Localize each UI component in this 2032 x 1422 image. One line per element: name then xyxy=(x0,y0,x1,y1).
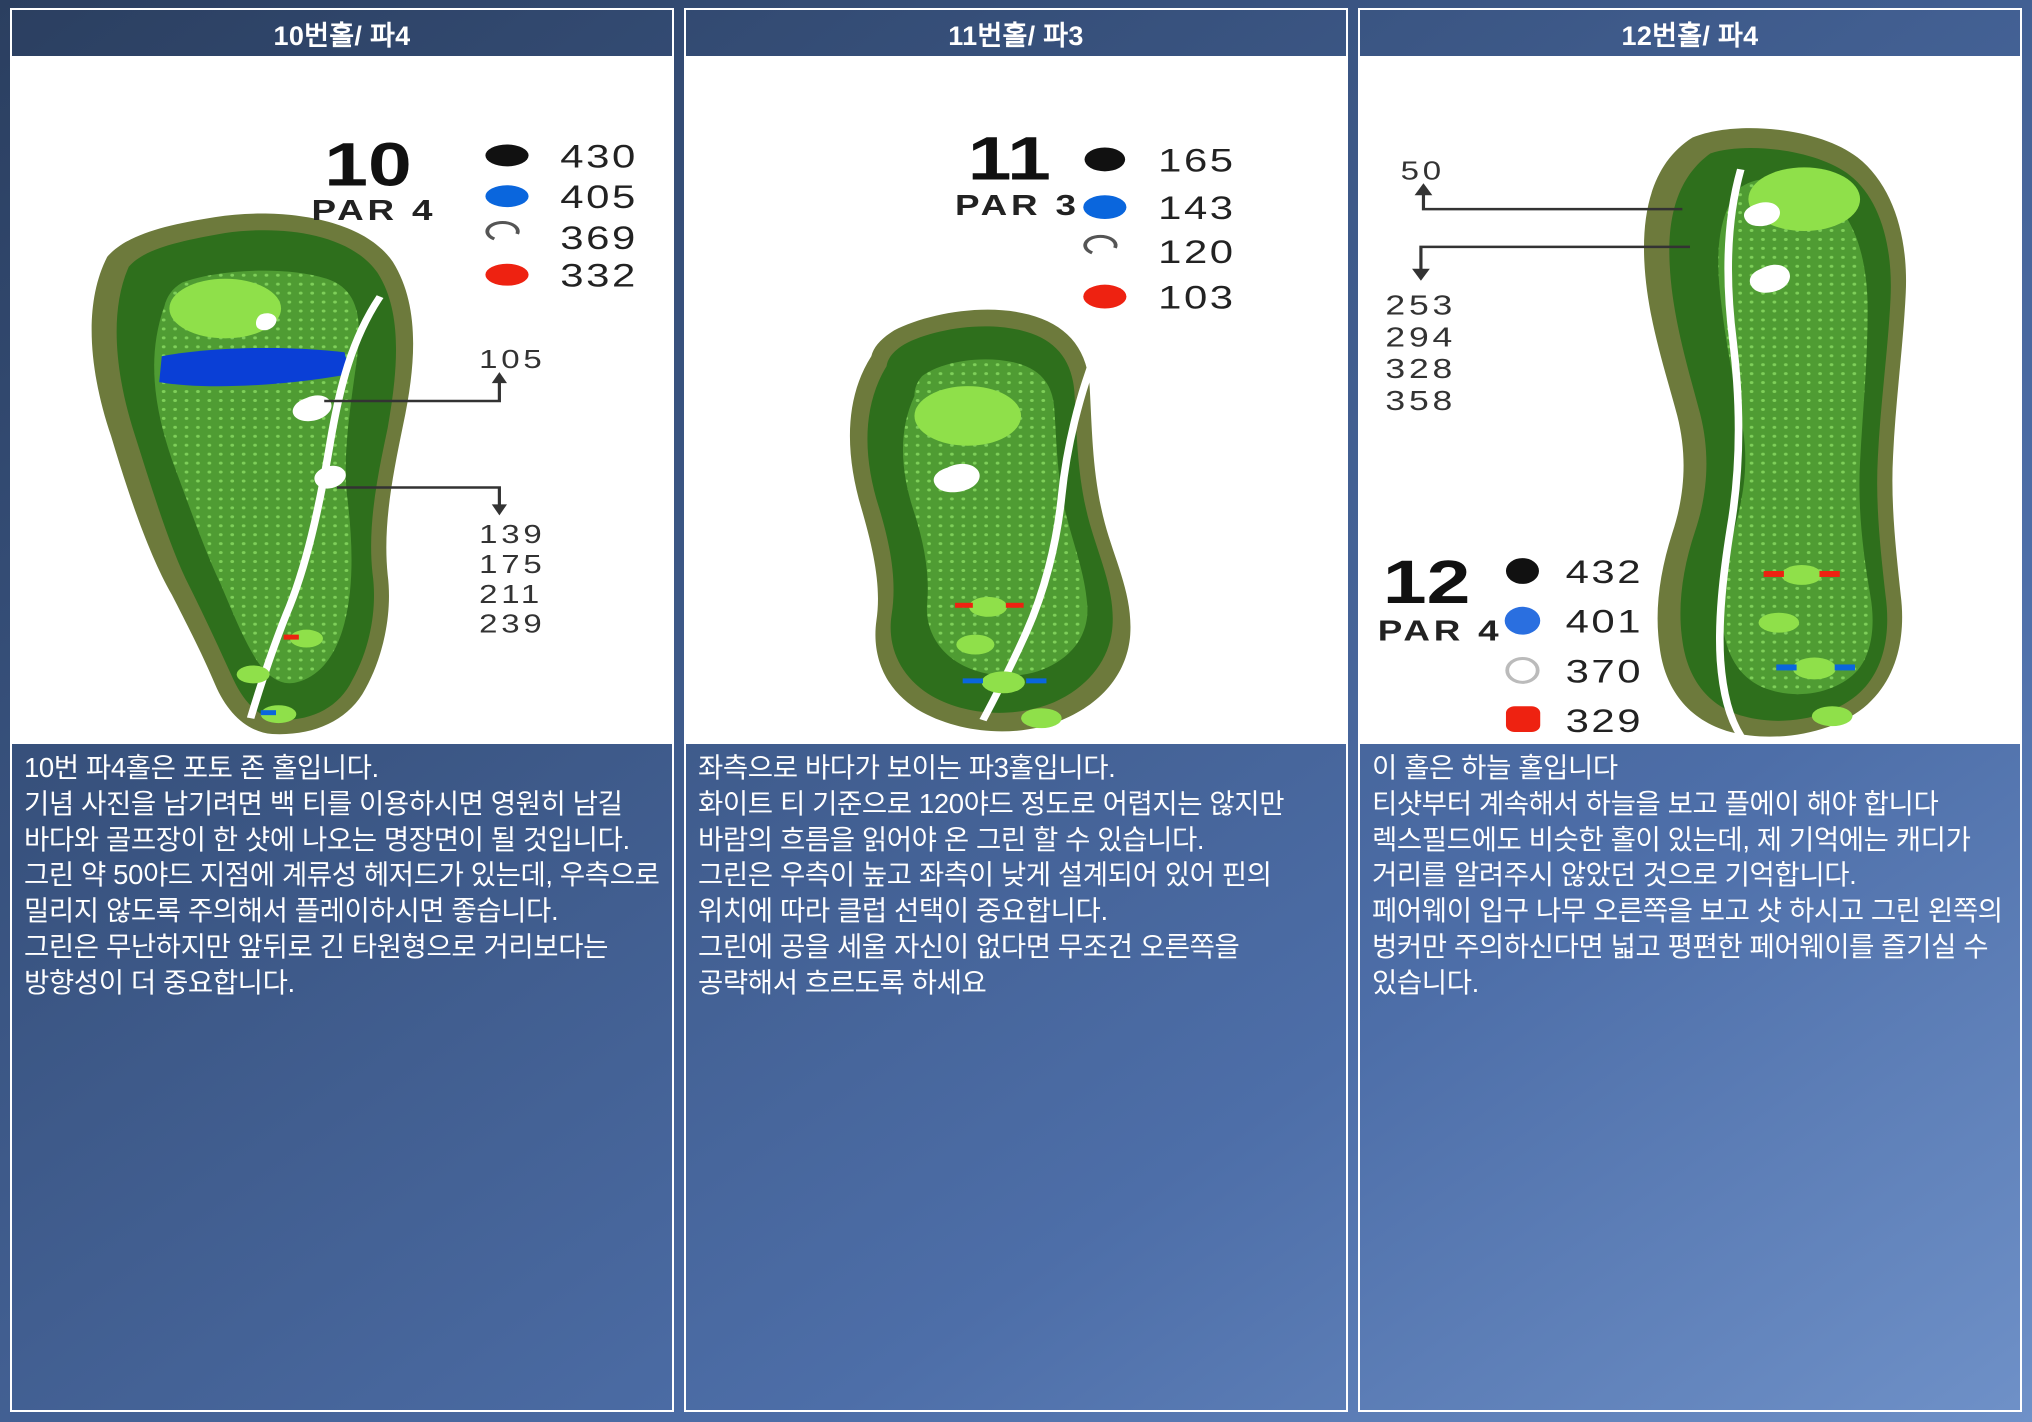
hole10-legend-yards-red: 332 xyxy=(560,257,637,294)
hole11-legend-marker-red xyxy=(1083,285,1126,309)
hole10-annotation-upper: 105 xyxy=(479,346,545,375)
hole12-tee-blue-l xyxy=(1776,664,1796,670)
hole12-annotation-lower-2: 328 xyxy=(1385,353,1456,384)
hole-description-12: 이 홀은 하늘 홀입니다 티샷부터 계속해서 하늘을 보고 플에이 해야 합니다… xyxy=(1358,744,2022,1412)
hole11-green xyxy=(914,386,1021,446)
hole10-annotation-lower-1: 175 xyxy=(479,550,545,579)
hole-diagram-12: 50 253 294 328 358 12 PAR 4 432 xyxy=(1358,56,2022,744)
hole-description-10: 10번 파4홀은 포토 존 홀입니다. 기념 사진을 남기려면 백 티를 이용하… xyxy=(10,744,674,1412)
hole11-teebox-2 xyxy=(956,635,994,655)
hole11-teebox-4 xyxy=(1021,708,1062,728)
hole12-teebox-4 xyxy=(1812,706,1853,726)
hole12-legend-yards-black: 432 xyxy=(1566,553,1643,590)
holes-grid: 10번홀/ 파4 xyxy=(10,8,2022,1412)
hole10-number: 10 xyxy=(324,129,412,198)
hole11-tee-red-l xyxy=(955,603,973,608)
hole-description-11: 좌측으로 바다가 보이는 파3홀입니다. 화이트 티 기준으로 120야드 정도… xyxy=(684,744,1348,1412)
hole-column-12: 12번홀/ 파4 xyxy=(1358,8,2022,1412)
hole10-par: PAR 4 xyxy=(312,195,437,227)
hole12-annotation-lower-0: 253 xyxy=(1385,289,1456,320)
hole10-legend-yards-black: 430 xyxy=(560,138,637,175)
hole12-annotation-upper: 50 xyxy=(1401,157,1445,186)
hole10-teebox-2 xyxy=(237,665,270,683)
hole-column-10: 10번홀/ 파4 xyxy=(10,8,674,1412)
hole11-number: 11 xyxy=(968,123,1051,192)
hole10-annotation-lower-2: 211 xyxy=(479,580,543,609)
slide-root: 10번홀/ 파4 xyxy=(0,0,2032,1422)
hole10-legend-yards-white: 369 xyxy=(560,219,637,256)
hole11-legend-yards-blue: 143 xyxy=(1158,189,1235,226)
hole11-tee-blue-l xyxy=(963,678,983,683)
hole11-tee-red-r xyxy=(1006,603,1024,608)
hole10-tee-red xyxy=(284,635,299,640)
hole10-annotation-lower-3: 239 xyxy=(479,610,545,639)
hole12-teebox-2 xyxy=(1759,613,1800,633)
hole-header-12: 12번홀/ 파4 xyxy=(1358,8,2022,56)
hole12-teebox-3 xyxy=(1793,657,1836,679)
hole-column-11: 11번홀/ 파3 xyxy=(684,8,1348,1412)
hole12-tee-red-r xyxy=(1819,571,1839,577)
hole12-legend-marker-white xyxy=(1507,658,1537,682)
hole11-legend-yards-red: 103 xyxy=(1158,279,1235,316)
hole-header-11: 11번홀/ 파3 xyxy=(684,8,1348,56)
hole12-legend-yards-blue: 401 xyxy=(1566,603,1643,640)
hole10-legend-yards-blue: 405 xyxy=(560,178,637,215)
hole12-legend-yards-white: 370 xyxy=(1566,653,1643,690)
hole12-legend-yards-red: 329 xyxy=(1566,702,1643,739)
hole12-teebox-1 xyxy=(1781,565,1822,585)
hole11-legend-yards-white: 120 xyxy=(1158,233,1235,270)
hole12-par: PAR 4 xyxy=(1378,615,1503,647)
hole-diagram-10: 10 PAR 4 430 405 369 332 105 xyxy=(10,56,674,744)
hole10-tee-blue xyxy=(261,710,276,715)
hole12-tee-blue-r xyxy=(1835,664,1855,670)
hole10-legend-marker-blue xyxy=(485,185,528,207)
hole-header-10: 10번홀/ 파4 xyxy=(10,8,674,56)
hole10-annotation-lower-0: 139 xyxy=(479,520,545,549)
hole12-annotation-lower-1: 294 xyxy=(1385,321,1456,352)
hole11-teebox-1 xyxy=(969,597,1007,617)
hole10-legend-marker-red xyxy=(485,264,528,286)
hole12-number: 12 xyxy=(1383,547,1471,616)
hole-diagram-11: 11 PAR 3 165 143 120 103 xyxy=(684,56,1348,744)
hole11-tee-blue-r xyxy=(1026,678,1046,683)
hole11-legend-marker-black xyxy=(1085,147,1126,171)
hole11-legend-yards-black: 165 xyxy=(1158,142,1235,179)
hole11-teebox-3 xyxy=(982,671,1025,693)
hole11-par: PAR 3 xyxy=(955,190,1080,222)
hole12-legend-marker-black xyxy=(1506,558,1539,584)
hole12-annotation-lower-3: 358 xyxy=(1385,385,1456,416)
hole12-tee-red-l xyxy=(1764,571,1784,577)
hole12-legend-marker-red xyxy=(1506,706,1540,732)
hole12-legend-marker-blue xyxy=(1505,607,1541,635)
hole11-legend-marker-blue xyxy=(1083,195,1126,219)
hole10-legend-marker-black xyxy=(485,144,528,166)
